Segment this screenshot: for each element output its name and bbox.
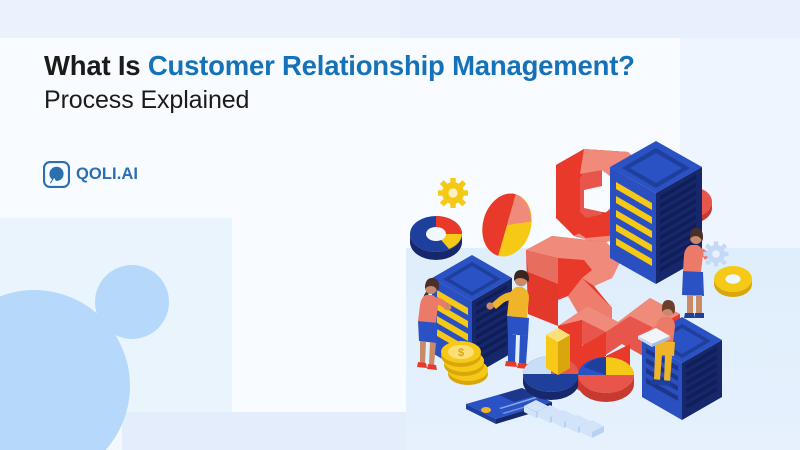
headline-plain-text: What Is [44,50,148,81]
background-top-band [0,0,400,38]
donut-chart-blue-red-yellow-icon [410,216,462,260]
ring-yellow-icon [714,266,752,297]
qoli-logo[interactable]: QOLI.AI [43,161,138,188]
crm-illustration-svg: $ [406,130,800,450]
svg-text:$: $ [458,347,464,359]
qoli-logo-mark-icon [43,161,70,188]
crm-isometric-illustration: $ [406,130,800,450]
headline-line-2: Process Explained [44,86,684,116]
pie-chart-blue-red-icon [578,357,634,402]
crm-article-banner: What Is Customer Relationship Management… [0,0,800,450]
decorative-circle-small [95,265,169,339]
background-top-right-band [400,0,800,38]
gear-held-icon [704,242,729,267]
qoli-logo-text: QOLI.AI [76,165,138,184]
headline-highlight-text: Customer Relationship Management? [148,50,635,81]
page-title: What Is Customer Relationship Management… [44,50,684,116]
gear-yellow-icon [438,178,468,208]
headline-line-1: What Is Customer Relationship Management… [44,50,684,82]
